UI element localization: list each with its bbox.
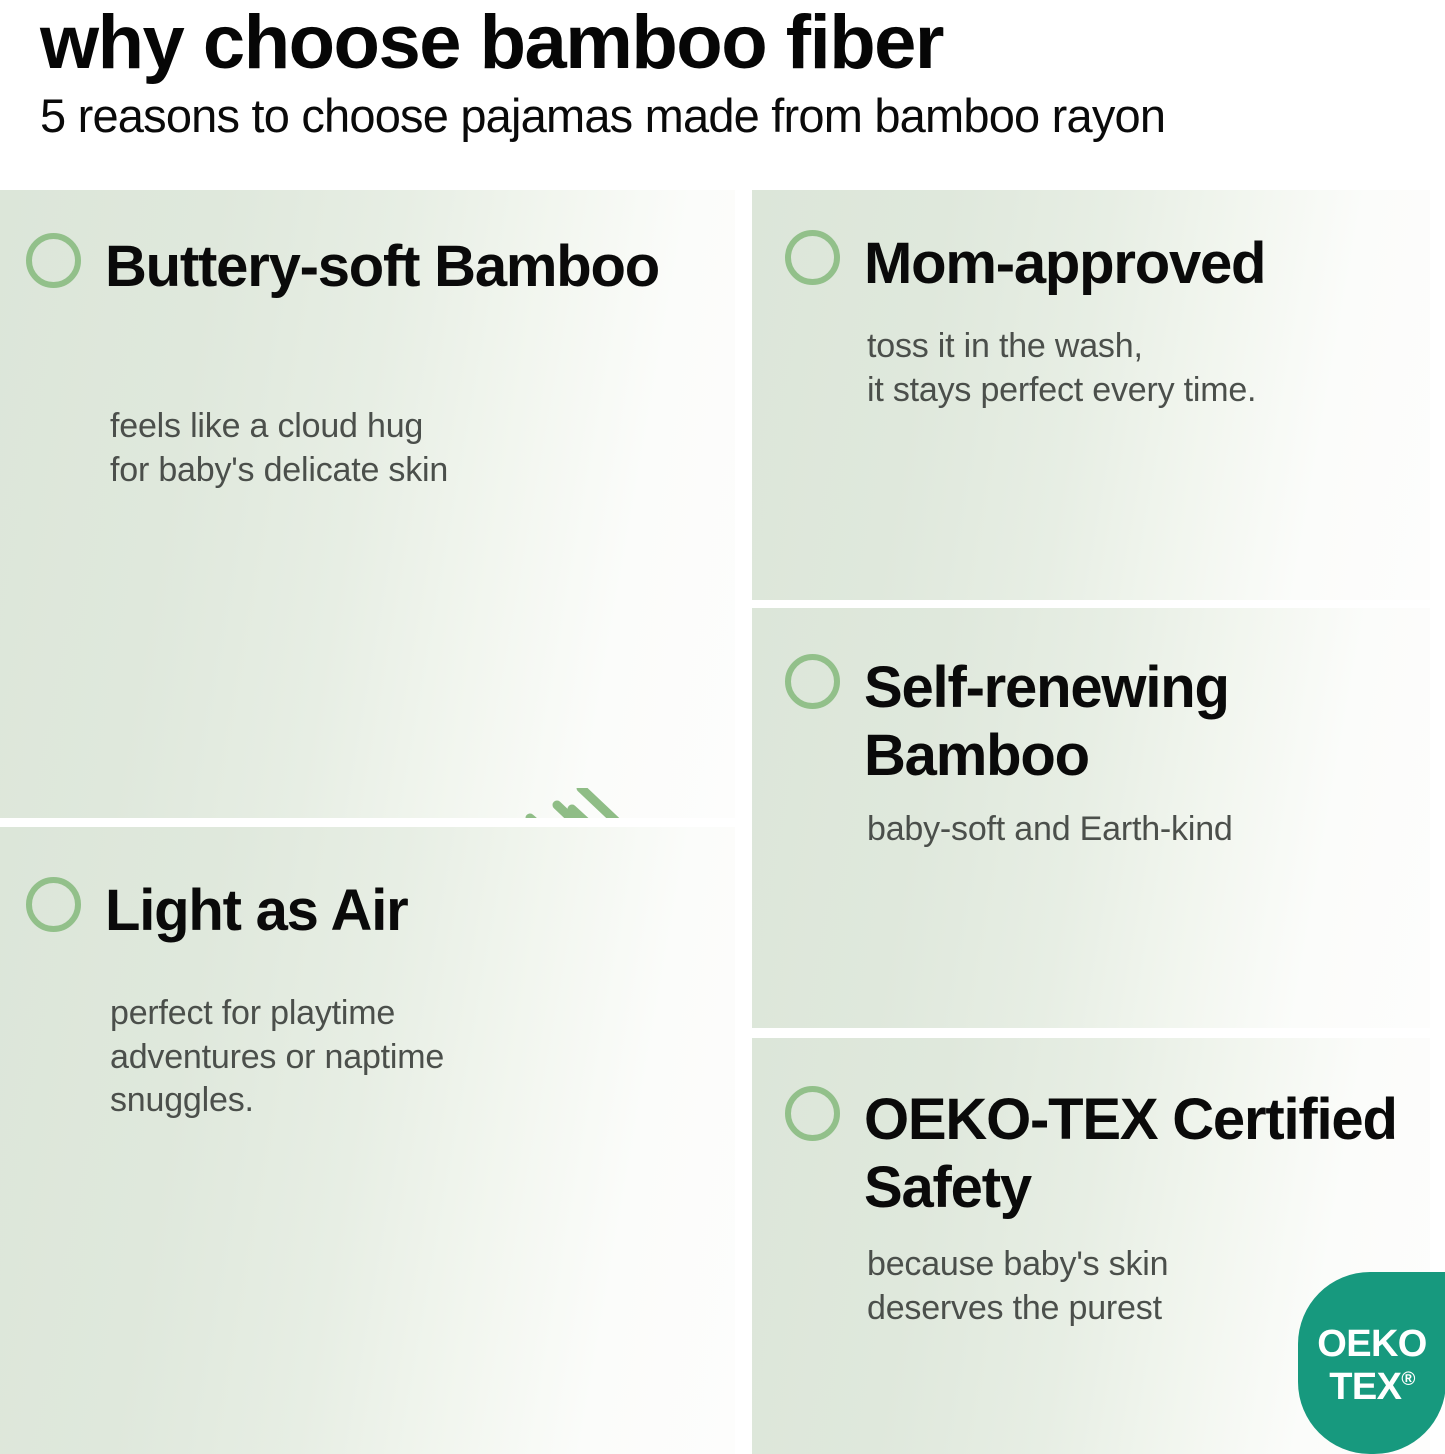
card-light-as-air: Light as Air perfect for playtime advent… xyxy=(0,827,735,1454)
registered-trademark-icon: ® xyxy=(1401,1370,1414,1389)
card-body-text: perfect for playtime adventures or napti… xyxy=(110,992,444,1123)
card-heading-row: Mom-approved xyxy=(785,230,1265,298)
card-title: OEKO-TEX Certified Safety xyxy=(864,1086,1430,1223)
circle-bullet-icon xyxy=(785,230,840,285)
page-subtitle: 5 reasons to choose pajamas made from ba… xyxy=(40,90,1421,143)
card-body-text: baby-soft and Earth-kind xyxy=(867,808,1233,852)
header: why choose bamboo fiber 5 reasons to cho… xyxy=(0,0,1445,190)
hand-touching-fabric-icon xyxy=(468,788,718,818)
circle-bullet-icon xyxy=(26,233,81,288)
card-self-renewing-bamboo: Self-renewing Bamboo baby-soft and Earth… xyxy=(752,608,1430,1028)
card-body-text: toss it in the wash, it stays perfect ev… xyxy=(867,325,1256,412)
infographic-page: why choose bamboo fiber 5 reasons to cho… xyxy=(0,0,1445,1454)
card-title: Self-renewing Bamboo xyxy=(864,654,1430,791)
card-title: Buttery-soft Bamboo xyxy=(105,233,659,301)
card-heading-row: Light as Air xyxy=(26,877,407,945)
page-title: why choose bamboo fiber xyxy=(40,2,1421,84)
benefit-card-grid: Buttery-soft Bamboo feels like a cloud h… xyxy=(0,190,1445,1454)
card-mom-approved: Mom-approved toss it in the wash, it sta… xyxy=(752,190,1430,600)
oeko-badge-line2-row: TEX ® xyxy=(1329,1368,1415,1406)
card-body-text: feels like a cloud hug for baby's delica… xyxy=(110,405,448,492)
card-body-text: because baby's skin deserves the purest xyxy=(867,1243,1168,1330)
card-buttery-soft-bamboo: Buttery-soft Bamboo feels like a cloud h… xyxy=(0,190,735,818)
oeko-tex-badge: OEKO TEX ® xyxy=(1298,1272,1445,1454)
circle-bullet-icon xyxy=(785,654,840,709)
card-heading-row: OEKO-TEX Certified Safety xyxy=(785,1086,1430,1223)
oeko-badge-line1: OEKO xyxy=(1317,1325,1427,1363)
oeko-badge-line2: TEX xyxy=(1329,1368,1401,1406)
card-title: Mom-approved xyxy=(864,230,1265,298)
card-heading-row: Buttery-soft Bamboo xyxy=(26,233,659,301)
card-heading-row: Self-renewing Bamboo xyxy=(785,654,1430,791)
card-title: Light as Air xyxy=(105,877,407,945)
circle-bullet-icon xyxy=(26,877,81,932)
circle-bullet-icon xyxy=(785,1086,840,1141)
